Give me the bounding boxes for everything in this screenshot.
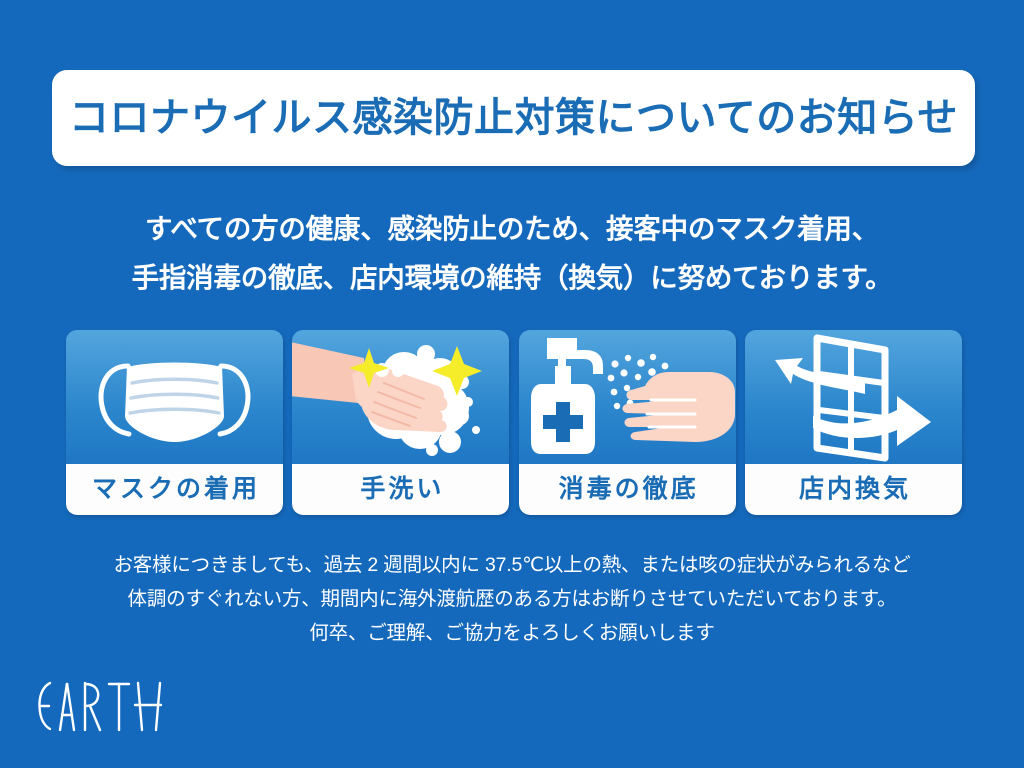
earth-brand-logo	[30, 675, 170, 735]
lead-line-1: すべての方の健康、感染防止のため、接客中のマスク着用、	[0, 204, 1024, 253]
covid-notice-poster: コロナウイルス感染防止対策についてのお知らせ すべての方の健康、感染防止のため、…	[0, 0, 1024, 768]
measure-card-sanitizer: 消毒の徹底	[519, 330, 736, 515]
lead-paragraph: すべての方の健康、感染防止のため、接客中のマスク着用、 手指消毒の徹底、店内環境…	[0, 204, 1024, 302]
lead-line-2: 手指消毒の徹底、店内環境の維持（換気）に努めております。	[0, 253, 1024, 302]
measure-card-label-sanitizer: 消毒の徹底	[519, 464, 736, 515]
measure-card-mask: マスクの着用	[66, 330, 283, 515]
hand-washing-icon	[292, 330, 509, 464]
notice-line-1: お客様につきましても、過去 2 週間以内に 37.5℃以上の熱、または咳の症状が…	[0, 548, 1024, 582]
measures-card-row: マスクの着用	[66, 330, 962, 515]
page-title: コロナウイルス感染防止対策についてのお知らせ	[69, 98, 958, 138]
title-banner: コロナウイルス感染防止対策についてのお知らせ	[52, 70, 975, 166]
measure-card-handwash: 手洗い	[292, 330, 509, 515]
measure-card-ventilation: 店内換気	[745, 330, 962, 515]
sanitizer-pump-icon	[519, 330, 736, 464]
surgical-mask-icon	[66, 330, 283, 464]
footer-notice: お客様につきましても、過去 2 週間以内に 37.5℃以上の熱、または咳の症状が…	[0, 548, 1024, 650]
measure-card-label-mask: マスクの着用	[66, 464, 283, 515]
notice-line-3: 何卒、ご理解、ご協力をよろしくお願いします	[0, 616, 1024, 650]
notice-line-2: 体調のすぐれない方、期間内に海外渡航歴のある方はお断りさせていただいております。	[0, 582, 1024, 616]
measure-card-label-handwash: 手洗い	[292, 464, 509, 515]
measure-card-label-ventilation: 店内換気	[745, 464, 962, 515]
window-ventilation-icon	[745, 330, 962, 464]
